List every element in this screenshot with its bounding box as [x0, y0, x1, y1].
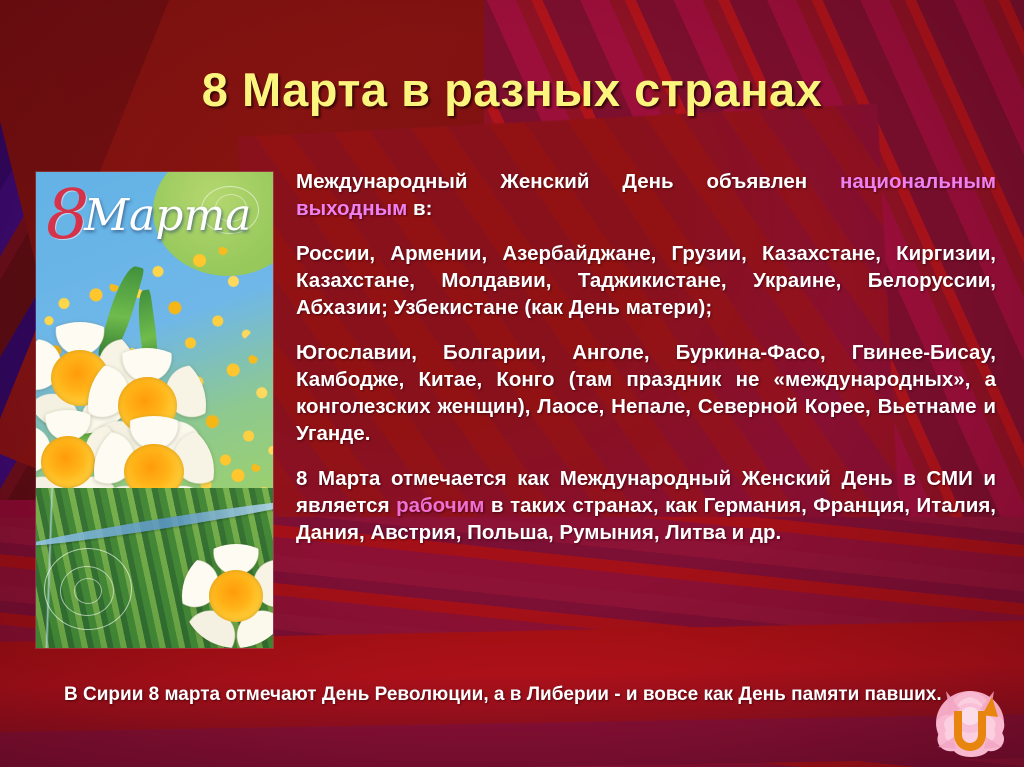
- photo-daffodil: [182, 544, 273, 648]
- paragraph-1: Международный Женский День объявлен наци…: [296, 168, 996, 222]
- photo-daffodil-trumpet: [41, 436, 95, 488]
- greeting-card-photo: 8 Марта: [36, 172, 273, 648]
- slide: 8 Марта в разных странах 8 Марта: [0, 0, 1024, 767]
- paragraph-2: России, Армении, Азербайджане, Грузии, К…: [296, 240, 996, 321]
- photo-spiral: [74, 578, 102, 604]
- photo-daffodil-trumpet: [209, 570, 263, 622]
- paragraph-1-part-a: Международный Женский День объявлен: [296, 170, 840, 193]
- photo-eight-glyph: 8: [46, 182, 89, 250]
- highlight-working-day: рабочим: [396, 494, 484, 517]
- page-title: 8 Марта в разных странах: [0, 62, 1024, 117]
- paragraph-3: Югославии, Болгарии, Анголе, Буркина-Фас…: [296, 339, 996, 447]
- photo-marta-script: Марта: [84, 194, 251, 238]
- rose-logo-icon: [930, 685, 1010, 761]
- paragraph-4: 8 Марта отмечается как Международный Жен…: [296, 465, 996, 546]
- footer-caption: В Сирии 8 марта отмечают День Революции,…: [64, 681, 944, 709]
- paragraph-1-part-b: в:: [407, 197, 432, 220]
- body-text-column: Международный Женский День объявлен наци…: [296, 168, 996, 546]
